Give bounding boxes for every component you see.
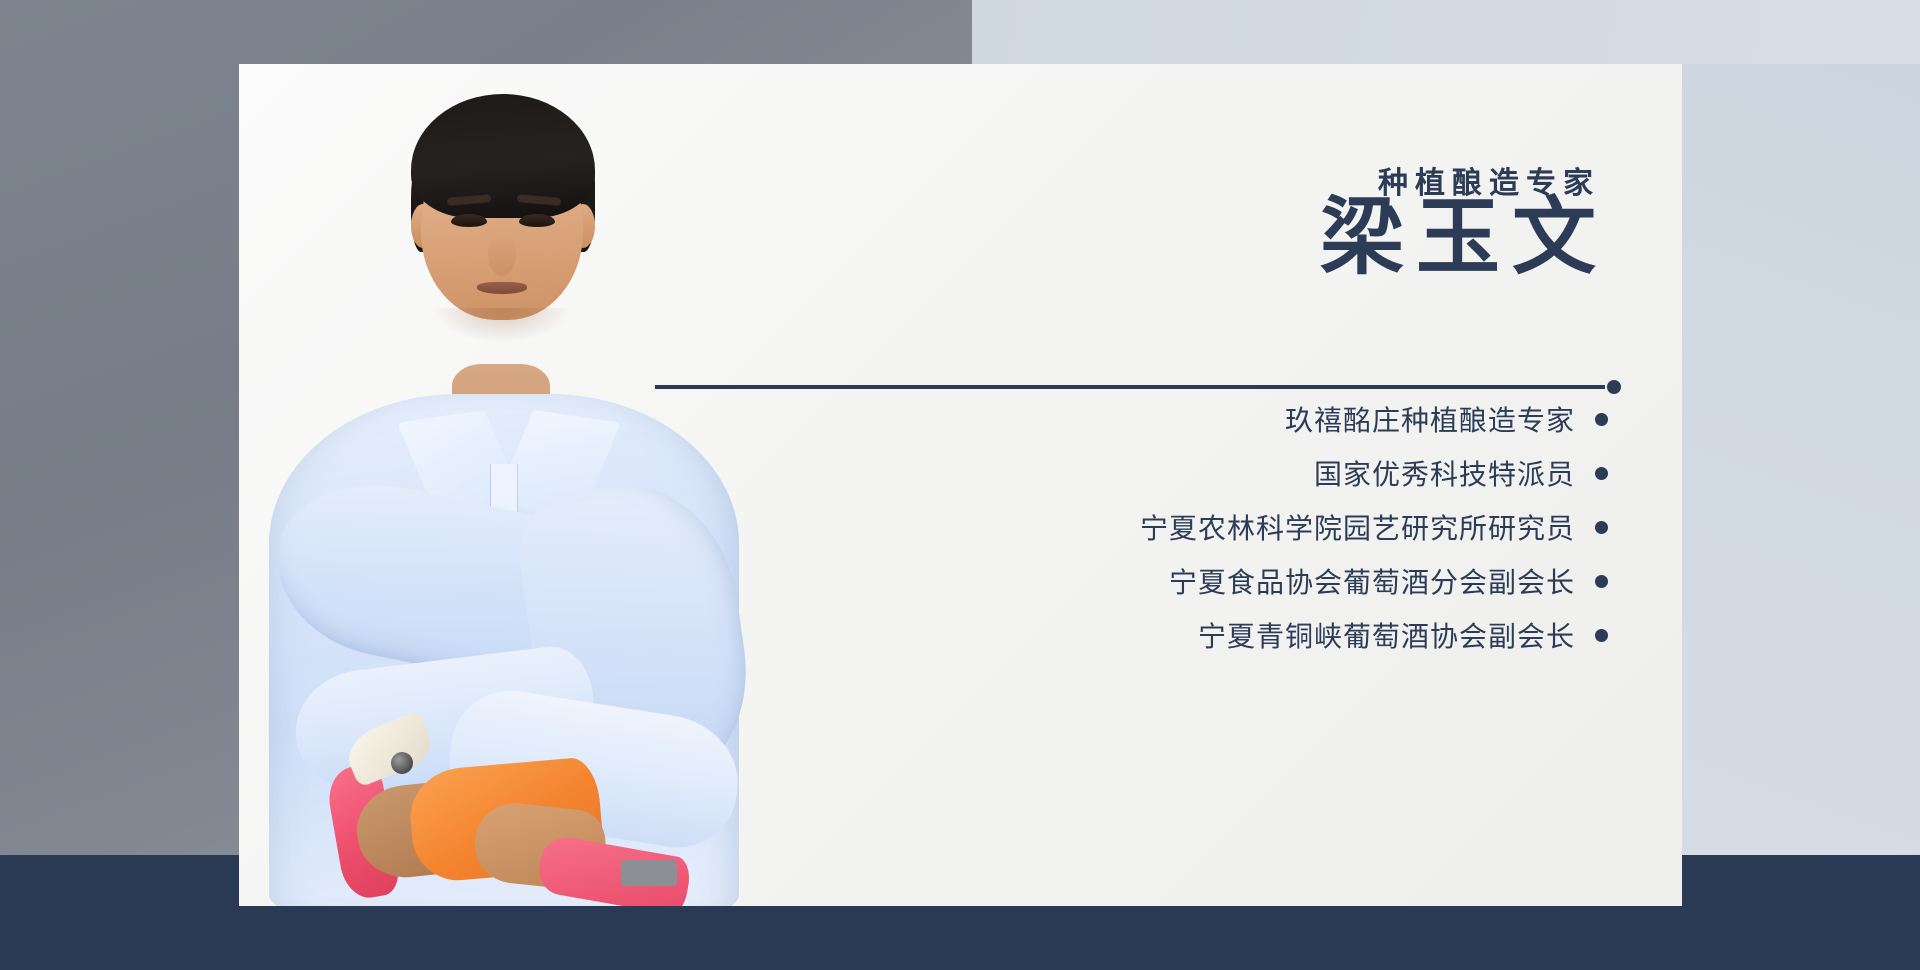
background-gray-left-block — [0, 0, 239, 855]
divider-end-dot-icon — [1607, 380, 1621, 394]
bullet-dot-icon — [1595, 467, 1608, 480]
bullet-dot-icon — [1595, 413, 1608, 426]
background-blue-right-panel — [1682, 64, 1920, 855]
bullet-dot-icon — [1595, 521, 1608, 534]
bullet-dot-icon — [1595, 575, 1608, 588]
bullet-dot-icon — [1595, 629, 1608, 642]
credential-text: 宁夏食品协会葡萄酒分会副会长 — [1169, 561, 1575, 601]
credential-text: 国家优秀科技特派员 — [1314, 453, 1575, 493]
profile-text-content: 种植酿造专家 梁玉文 玖禧酩庄种植酿造专家 国家优秀科技特派员 宁夏农林科学院园… — [239, 64, 1682, 906]
list-item: 宁夏青铜峡葡萄酒协会副会长 — [708, 608, 1608, 662]
background-blue-top-band — [972, 0, 1920, 64]
list-item: 玖禧酩庄种植酿造专家 — [708, 392, 1608, 446]
list-item: 宁夏食品协会葡萄酒分会副会长 — [708, 554, 1608, 608]
list-item: 宁夏农林科学院园艺研究所研究员 — [708, 500, 1608, 554]
poster-canvas: 种植酿造专家 梁玉文 玖禧酩庄种植酿造专家 国家优秀科技特派员 宁夏农林科学院园… — [0, 0, 1920, 970]
credential-text: 玖禧酩庄种植酿造专家 — [1285, 399, 1575, 439]
divider-line — [655, 385, 1605, 389]
credential-text: 宁夏农林科学院园艺研究所研究员 — [1140, 507, 1575, 547]
profile-name: 梁玉文 — [1320, 192, 1608, 286]
list-item: 国家优秀科技特派员 — [708, 446, 1608, 500]
credentials-list: 玖禧酩庄种植酿造专家 国家优秀科技特派员 宁夏农林科学院园艺研究所研究员 宁夏食… — [708, 392, 1608, 662]
profile-card: 种植酿造专家 梁玉文 玖禧酩庄种植酿造专家 国家优秀科技特派员 宁夏农林科学院园… — [239, 64, 1682, 906]
credential-text: 宁夏青铜峡葡萄酒协会副会长 — [1198, 615, 1575, 655]
